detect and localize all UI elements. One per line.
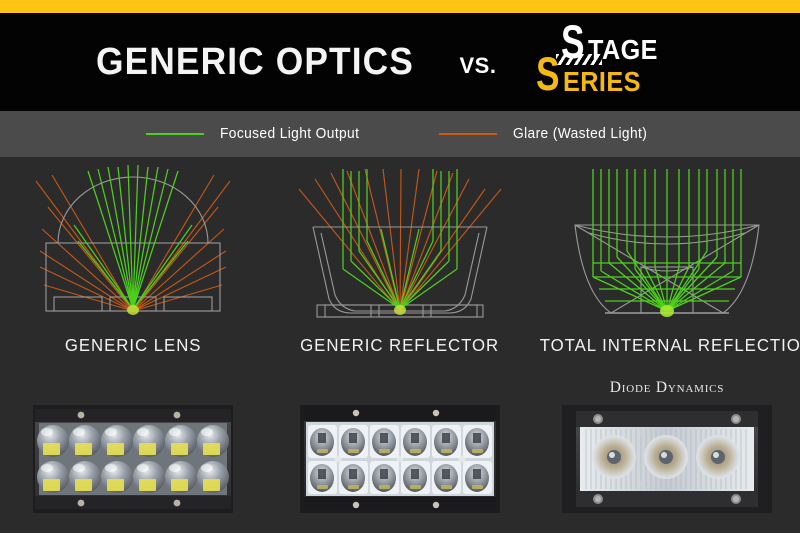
panel-generic-lens: GENERIC LENS (0, 157, 266, 533)
stage-series-logo: S TAGE S ERIES (536, 27, 716, 99)
led-die-glow (660, 305, 674, 317)
focused-rays-group (593, 169, 741, 311)
orange-line-swatch (439, 133, 497, 135)
glare-rays-group (299, 169, 501, 311)
legend-label-glare: Glare (Wasted Light) (513, 126, 647, 142)
versus-label: VS. (459, 53, 496, 79)
top-accent-rule (0, 0, 800, 13)
panel-total-internal-reflection: TOTAL INTERNAL REFLECTION Diode Dynamics (534, 157, 800, 533)
photo-generic-lens-bar (0, 405, 266, 517)
caption-generic-reflector: GENERIC REFLECTOR (267, 335, 533, 356)
brand-diode-dynamics: Diode Dynamics (534, 379, 800, 397)
logo-series-initial: S (536, 54, 559, 96)
comparison-panels: GENERIC LENS (0, 157, 800, 533)
header-band: GENERIC OPTICS VS. S TAGE S ERIES (0, 13, 800, 111)
lens-outline (46, 177, 220, 311)
logo-series-rest: ERIES (563, 66, 641, 98)
infographic-root: GENERIC OPTICS VS. S TAGE S ERIES Focuse… (0, 0, 800, 533)
diagram-generic-lens (0, 163, 266, 333)
diagram-generic-reflector (267, 163, 533, 333)
caption-total-internal-reflection: TOTAL INTERNAL REFLECTION (534, 335, 800, 356)
focused-rays-group (74, 165, 192, 309)
caption-generic-lens: GENERIC LENS (0, 335, 266, 356)
page-title-generic-optics: GENERIC OPTICS (95, 41, 413, 84)
photo-generic-reflector-bar (267, 405, 533, 517)
logo-line-series: S ERIES (536, 60, 649, 98)
legend-item-focused: Focused Light Output (146, 126, 367, 142)
panel-generic-reflector: GENERIC REFLECTOR (267, 157, 533, 533)
legend: Focused Light Output Glare (Wasted Light… (0, 111, 800, 157)
legend-label-focused: Focused Light Output (220, 126, 359, 142)
legend-item-glare: Glare (Wasted Light) (439, 126, 654, 142)
diagram-tir-optic (534, 163, 800, 333)
green-line-swatch (146, 133, 204, 135)
tir-optic-array (592, 435, 740, 479)
photo-tir-light-bar (534, 405, 800, 517)
led-die-glow (127, 305, 139, 315)
led-die-glow (394, 305, 406, 315)
